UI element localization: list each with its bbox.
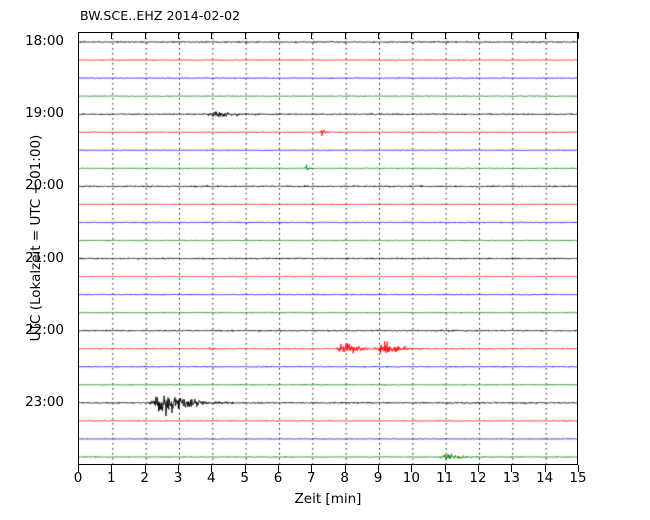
x-axis-label: Zeit [min] — [0, 491, 650, 507]
x-axis-tick-label: 3 — [174, 470, 183, 486]
x-axis-tick-label: 14 — [536, 470, 553, 486]
x-axis-tick-mark — [511, 32, 512, 39]
seismogram-traces — [79, 33, 578, 465]
x-axis-tick-label: 6 — [274, 470, 283, 486]
page-title: BW.SCE..EHZ 2014-02-02 — [80, 8, 240, 23]
x-axis-tick-label: 10 — [403, 470, 420, 486]
x-axis-tick-mark — [545, 32, 546, 39]
x-axis-tick-mark — [145, 32, 146, 39]
y-axis-tick-label: 23:00 — [25, 394, 64, 410]
x-axis-tick-mark — [445, 32, 446, 39]
x-axis-label-text: Zeit [min] — [295, 491, 362, 507]
x-axis-tick-mark — [478, 32, 479, 39]
x-axis-tick-label: 7 — [307, 470, 316, 486]
x-axis-tick-mark — [345, 32, 346, 39]
x-axis-tick-mark — [78, 32, 79, 39]
x-axis-tick-mark — [411, 32, 412, 39]
y-axis-tick-label: 20:00 — [25, 177, 64, 193]
x-axis-tick-mark — [378, 32, 379, 39]
x-axis-tick-mark — [111, 32, 112, 39]
x-axis-tick-label: 9 — [374, 470, 383, 486]
x-axis-tick-mark — [578, 32, 579, 39]
plot-area — [78, 32, 578, 465]
x-axis-tick-label: 13 — [503, 470, 520, 486]
y-axis-tick-label: 22:00 — [25, 322, 64, 338]
y-axis-tick-label: 21:00 — [25, 250, 64, 266]
y-axis-tick-label: 18:00 — [25, 33, 64, 49]
x-axis-tick-label: 2 — [140, 470, 149, 486]
x-axis-tick-label: 0 — [74, 470, 83, 486]
x-axis-tick-label: 8 — [340, 470, 349, 486]
x-axis-tick-mark — [311, 32, 312, 39]
x-axis-tick-mark — [278, 32, 279, 39]
x-axis-tick-label: 15 — [569, 470, 586, 486]
y-axis-tick-label: 19:00 — [25, 105, 64, 121]
y-axis-tick-labels: 18:0019:0020:0021:0022:0023:00 — [0, 0, 72, 520]
x-axis-tick-mark — [178, 32, 179, 39]
x-axis-tick-label: 1 — [107, 470, 116, 486]
x-axis-tick-mark — [245, 32, 246, 39]
x-axis-tick-label: 4 — [207, 470, 216, 486]
x-axis-tick-label: 5 — [240, 470, 249, 486]
x-axis-tick-label: 12 — [469, 470, 486, 486]
x-axis-tick-label: 11 — [436, 470, 453, 486]
seismogram-figure: BW.SCE..EHZ 2014-02-02 UTC (Lokalzeit = … — [0, 0, 650, 520]
x-axis-tick-mark — [211, 32, 212, 39]
